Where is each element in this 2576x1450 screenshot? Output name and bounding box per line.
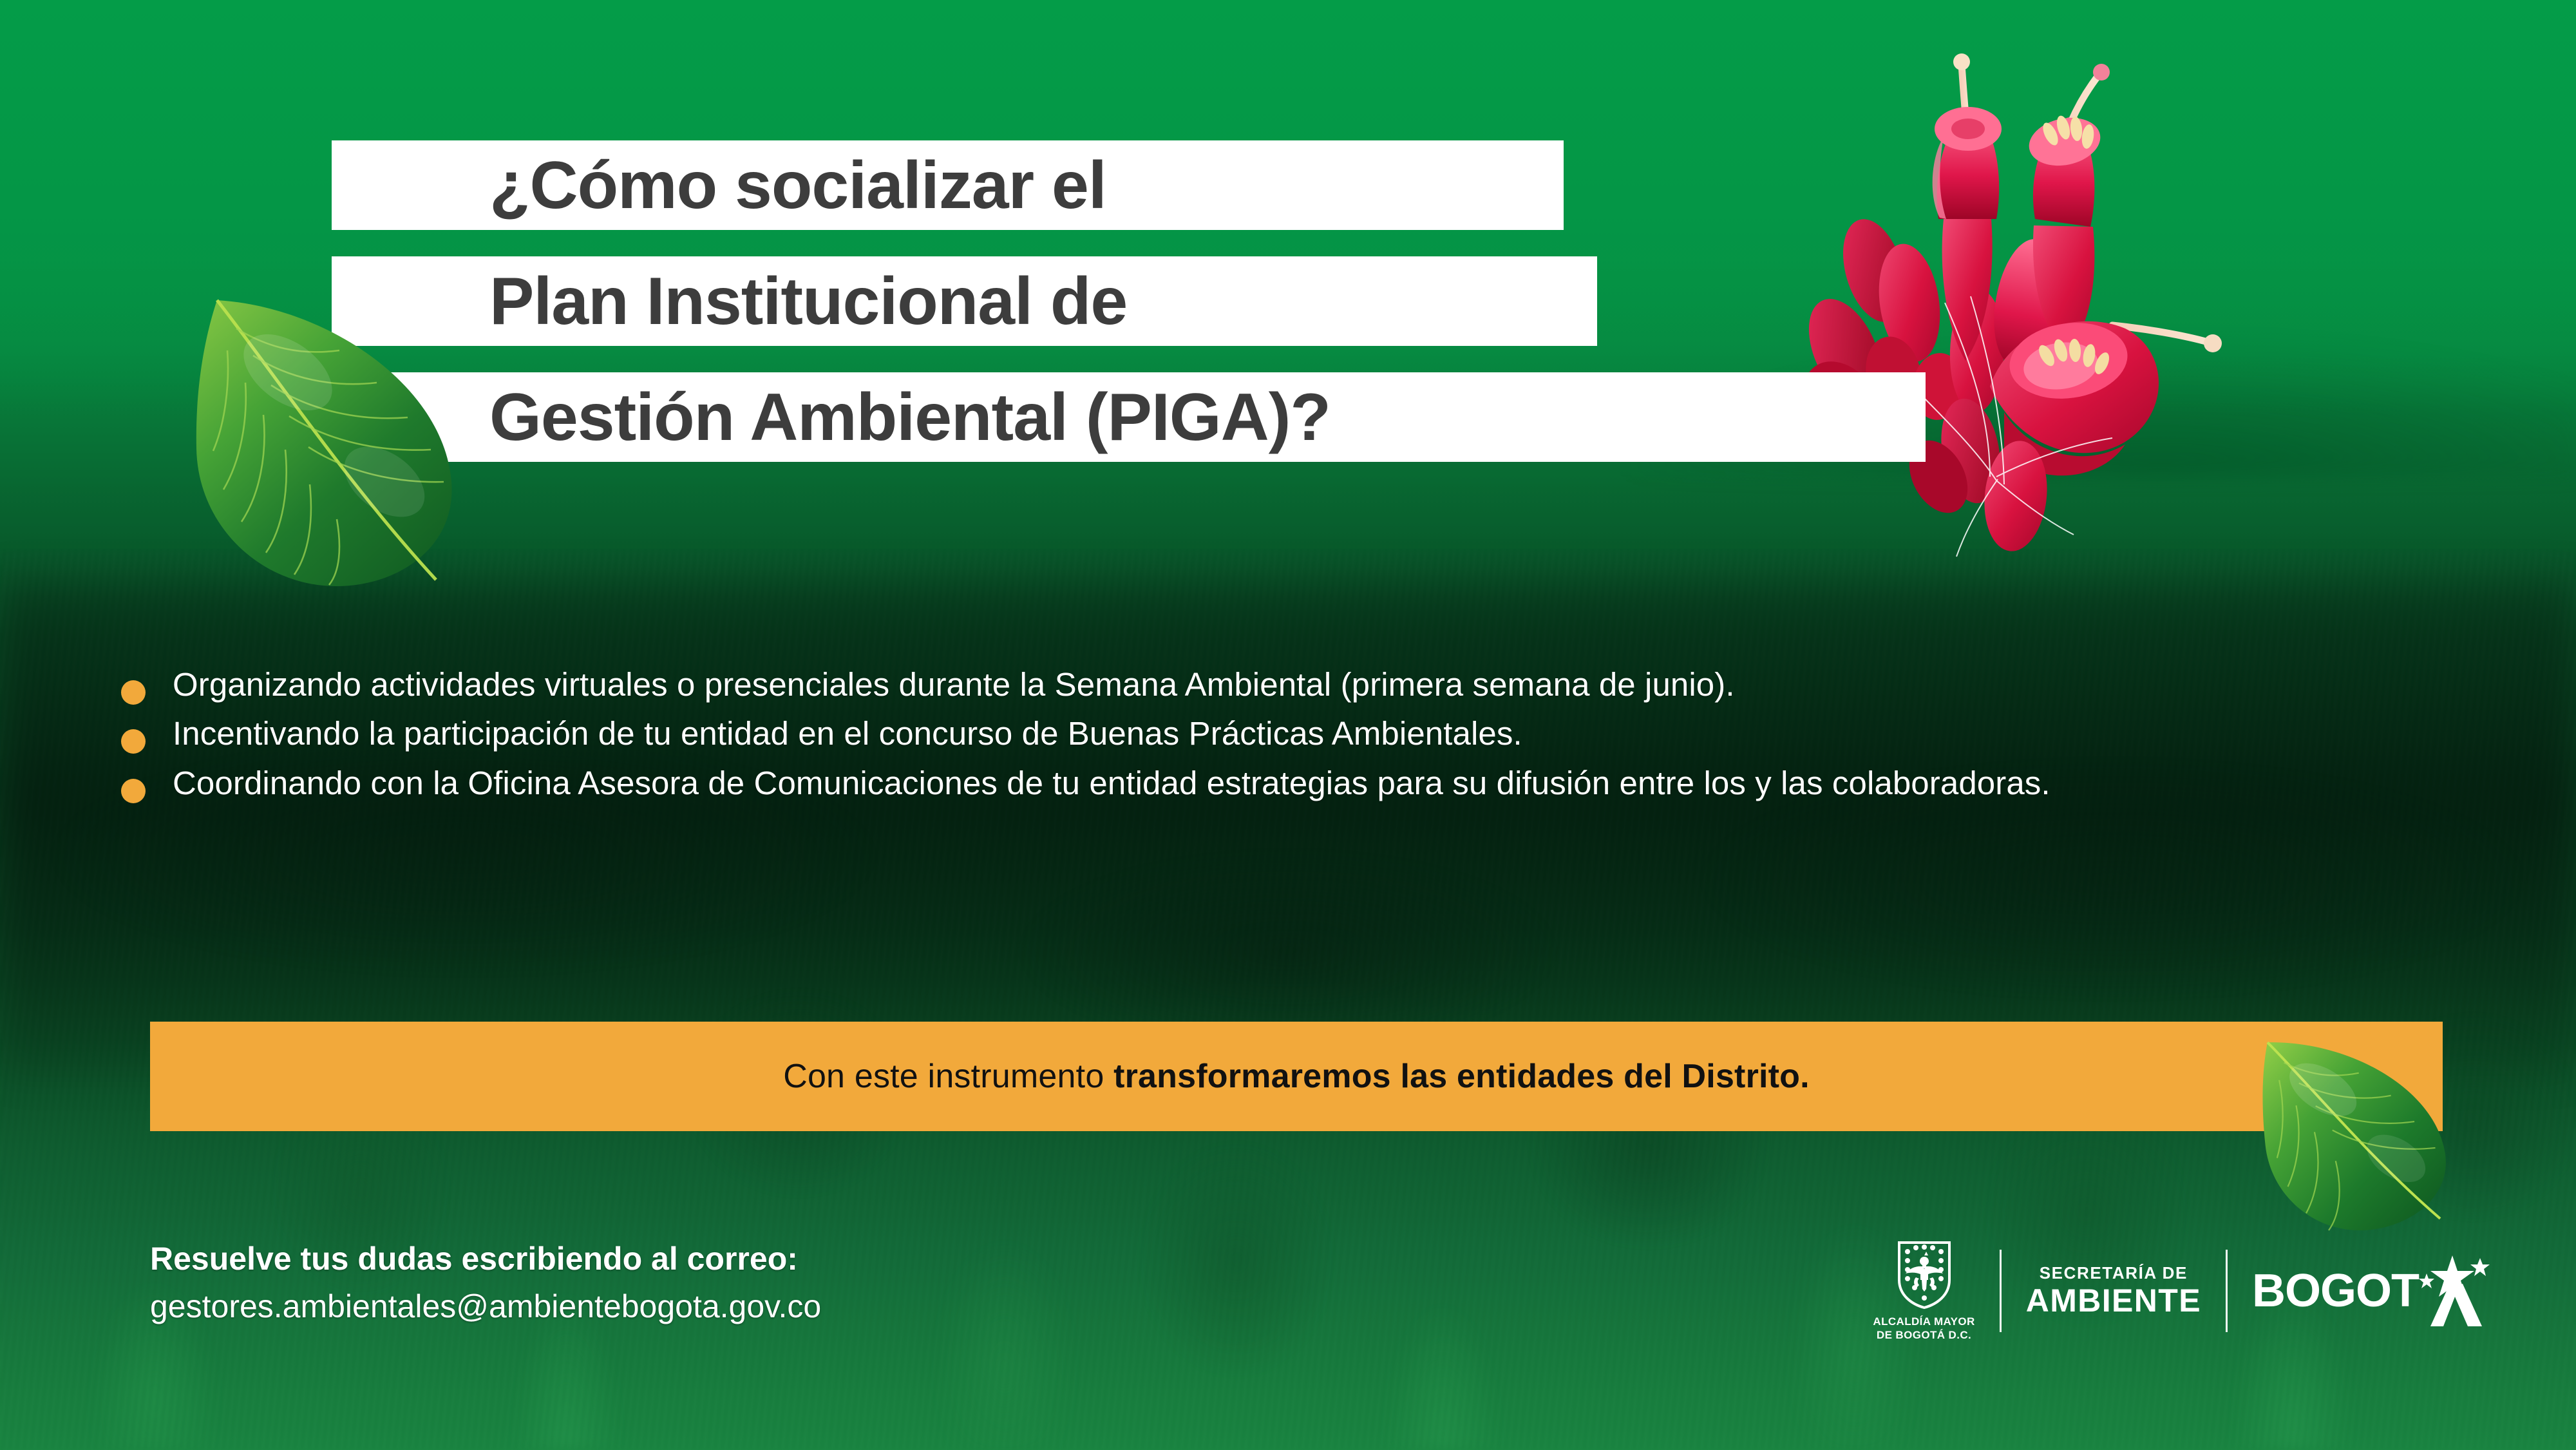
bullet-text-1: Organizando actividades virtuales o pres… (173, 663, 1735, 706)
highlight-banner: Con este instrumento transformaremos las… (150, 1022, 2443, 1131)
bogota-coat-of-arms-icon (1897, 1240, 1952, 1310)
banner-emphasis: transformaremos las entidades del Distri… (1113, 1058, 1810, 1095)
title-bar-2: Plan Institucional de (332, 256, 1597, 346)
list-item: Organizando actividades virtuales o pres… (121, 663, 2517, 706)
list-item: Incentivando la participación de tu enti… (121, 712, 2517, 755)
title-bar-3: Gestión Ambiental (PIGA)? (332, 372, 1926, 462)
logo-lockup: ALCALDÍA MAYOR DE BOGOTÁ D.C. SECRETARÍA… (1873, 1240, 2492, 1342)
alcaldia-logo: ALCALDÍA MAYOR DE BOGOTÁ D.C. (1873, 1240, 1975, 1342)
poster-canvas: ¿Cómo socializar el Plan Institucional d… (0, 0, 2576, 1450)
banner-text: Con este instrumento transformaremos las… (783, 1057, 1810, 1096)
title-bar-1: ¿Cómo socializar el (332, 140, 1564, 230)
page-title: ¿Cómo socializar el Plan Institucional d… (332, 140, 1926, 462)
logo-divider-1 (2000, 1250, 2002, 1332)
bullet-text-2: Incentivando la participación de tu enti… (173, 712, 1522, 755)
contact-block: Resuelve tus dudas escribiendo al correo… (150, 1240, 821, 1325)
background-dark-band (0, 580, 2576, 1073)
secretaria-ambiente-logo: SECRETARÍA DE AMBIENTE (2026, 1263, 2201, 1319)
logo-divider-2 (2226, 1250, 2228, 1332)
alcaldia-line-1: ALCALDÍA MAYOR (1873, 1315, 1975, 1328)
bullet-dot-icon (121, 680, 146, 705)
bogota-star-a-icon (2415, 1253, 2492, 1329)
bogota-brand-logo: BOGOT (2252, 1253, 2492, 1329)
bullet-list: Organizando actividades virtuales o pres… (121, 663, 2517, 811)
contact-email[interactable]: gestores.ambientales@ambientebogota.gov.… (150, 1288, 821, 1325)
bullet-dot-icon (121, 729, 146, 754)
secretaria-line-2: AMBIENTE (2026, 1283, 2201, 1319)
secretaria-line-1: SECRETARÍA DE (2040, 1263, 2188, 1283)
bullet-dot-icon (121, 779, 146, 803)
title-line-1: ¿Cómo socializar el (332, 152, 1106, 219)
title-line-2: Plan Institucional de (332, 268, 1127, 335)
title-line-3: Gestión Ambiental (PIGA)? (332, 384, 1331, 451)
alcaldia-line-2: DE BOGOTÁ D.C. (1873, 1328, 1975, 1342)
alcaldia-caption: ALCALDÍA MAYOR DE BOGOTÁ D.C. (1873, 1315, 1975, 1342)
bullet-text-3: Coordinando con la Oficina Asesora de Co… (173, 762, 2050, 805)
banner-lead: Con este instrumento (783, 1058, 1113, 1095)
contact-prompt: Resuelve tus dudas escribiendo al correo… (150, 1240, 821, 1277)
bogota-wordmark: BOGOT (2252, 1268, 2419, 1314)
list-item: Coordinando con la Oficina Asesora de Co… (121, 762, 2517, 805)
